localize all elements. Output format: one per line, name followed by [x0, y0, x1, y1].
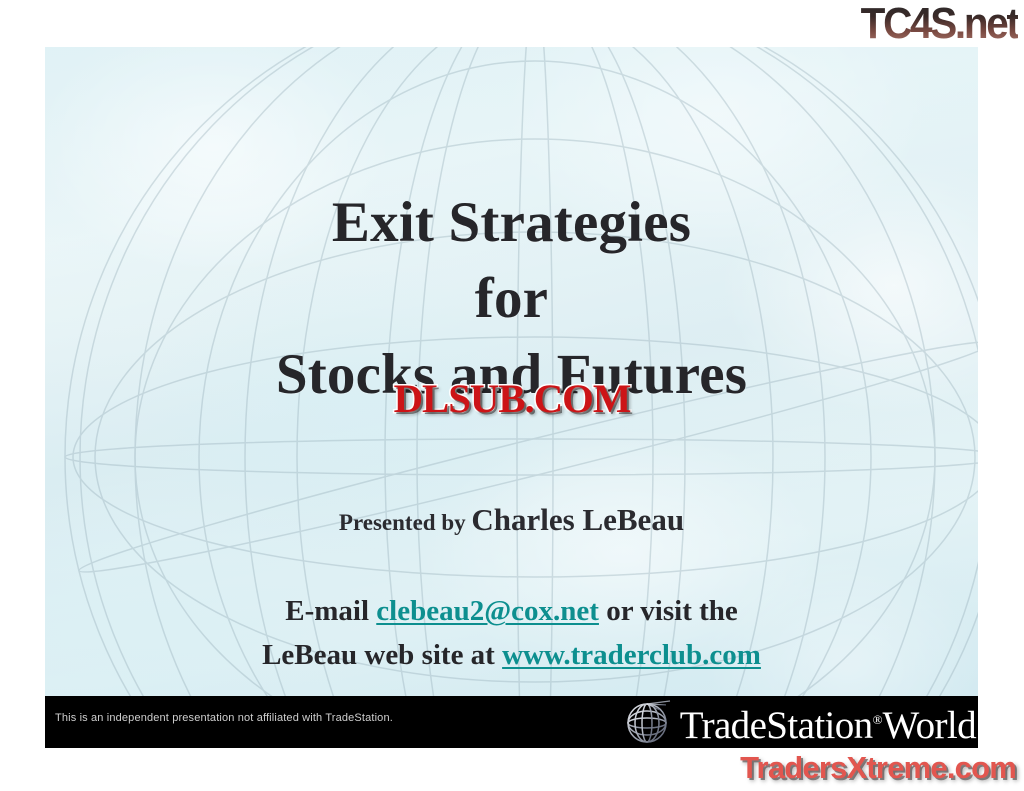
email-label: E-mail	[285, 595, 376, 627]
watermark-dlsub: DLSUB.COM	[393, 379, 630, 419]
tradestation-globe-icon	[620, 699, 678, 745]
website-link[interactable]: www.traderclub.com	[502, 639, 761, 671]
presenter-prefix: Presented by	[339, 510, 471, 535]
slide-canvas: Exit Strategies for Stocks and Futures P…	[45, 47, 978, 748]
logo-text-tradestation: TradeStation	[680, 704, 873, 747]
tradestation-world-wordmark: TradeStation®World	[680, 700, 976, 745]
presenter-credit: Presented by Charles LeBeau	[45, 502, 978, 538]
footer-bar: This is an independent presentation not …	[45, 696, 978, 748]
watermark-tc4s: TC4S.net	[861, 1, 1018, 47]
logo-text-world: World	[882, 704, 976, 747]
email-suffix: or visit the	[599, 595, 738, 627]
title-line-2: for	[45, 261, 978, 337]
presentation-page: Exit Strategies for Stocks and Futures P…	[0, 0, 1024, 791]
registered-mark-icon: ®	[873, 712, 883, 727]
disclaimer-text: This is an independent presentation not …	[55, 712, 393, 724]
title-line-1: Exit Strategies	[45, 185, 978, 261]
contact-line-email: E-mail clebeau2@cox.net or visit the	[45, 589, 978, 633]
website-label: LeBeau web site at	[262, 639, 502, 671]
watermark-tradersxtreme: TradersXtreme.com	[740, 751, 1016, 785]
email-link[interactable]: clebeau2@cox.net	[376, 595, 599, 627]
presenter-name: Charles LeBeau	[471, 502, 684, 537]
contact-line-website: LeBeau web site at www.traderclub.com	[45, 633, 978, 677]
tradestation-world-logo: TradeStation®World	[620, 698, 976, 746]
contact-info: E-mail clebeau2@cox.net or visit the LeB…	[45, 589, 978, 677]
